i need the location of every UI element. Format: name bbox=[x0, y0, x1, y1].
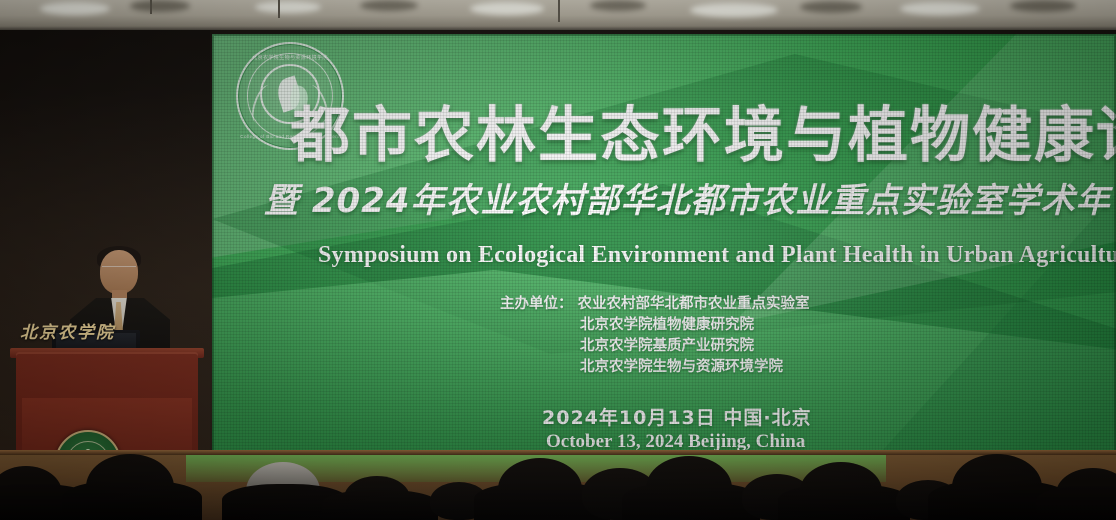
forum-title-chinese: 都市农林生态环境与植物健康论坛 bbox=[290, 106, 1116, 166]
foreground-rail bbox=[0, 450, 1116, 455]
organizer-list: 主办单位： 农业农村部华北都市农业重点实验室 北京农学院植物健康研究院 北京农学… bbox=[500, 294, 810, 378]
organizer-line: 北京农学院基质产业研究院 bbox=[500, 336, 810, 357]
ceiling-downlight bbox=[470, 2, 544, 15]
ceiling-recess bbox=[1010, 0, 1076, 12]
ceiling-recess bbox=[130, 0, 190, 12]
organizer-line: 北京农学院生物与资源环境学院 bbox=[500, 357, 810, 378]
audience-shoulders bbox=[778, 484, 910, 520]
forum-title-english: Symposium on Ecological Environment and … bbox=[318, 242, 1116, 269]
organizer-line: 主办单位： 农业农村部华北都市农业重点实验室 bbox=[500, 294, 810, 315]
ceiling-downlight bbox=[255, 1, 321, 13]
forum-subtitle-chinese: 暨 2024年农业农村部华北都市农业重点实验室学术年 bbox=[264, 184, 1116, 218]
ceiling-fixture-stem bbox=[278, 0, 280, 18]
ceiling-recess bbox=[360, 0, 418, 11]
screen-banner-content: 都市农林生态环境与植物健康论坛 暨 2024年农业农村部华北都市农业重点实验室学… bbox=[212, 34, 1116, 464]
auditorium-scene: 北京农学院生物与资源环境学院 College of Bio and Resour… bbox=[0, 0, 1116, 520]
glasses-icon bbox=[102, 266, 136, 274]
audience-shoulders bbox=[322, 490, 438, 520]
ceiling-downlight bbox=[690, 3, 778, 17]
ceiling-fixture-stem bbox=[150, 0, 152, 14]
audience-shoulders bbox=[62, 480, 202, 520]
event-date-block: 2024年10月13日 中国·北京 October 13, 2024 Beiji… bbox=[542, 406, 812, 454]
audience-shoulders bbox=[622, 482, 760, 520]
event-date-chinese: 2024年10月13日 中国·北京 bbox=[542, 406, 812, 430]
ceiling-recess bbox=[590, 0, 646, 11]
led-presentation-screen: 北京农学院生物与资源环境学院 College of Bio and Resour… bbox=[212, 34, 1116, 464]
ceiling-fixture-stem bbox=[558, 0, 560, 22]
ceiling-recess bbox=[800, 1, 862, 13]
organizer-line: 北京农学院植物健康研究院 bbox=[500, 315, 810, 336]
podium-institution-text: 北京农学院 bbox=[20, 316, 140, 350]
ceiling-downlight bbox=[900, 2, 980, 15]
audience-shoulders bbox=[1036, 486, 1116, 520]
ceiling-downlight bbox=[40, 2, 110, 15]
